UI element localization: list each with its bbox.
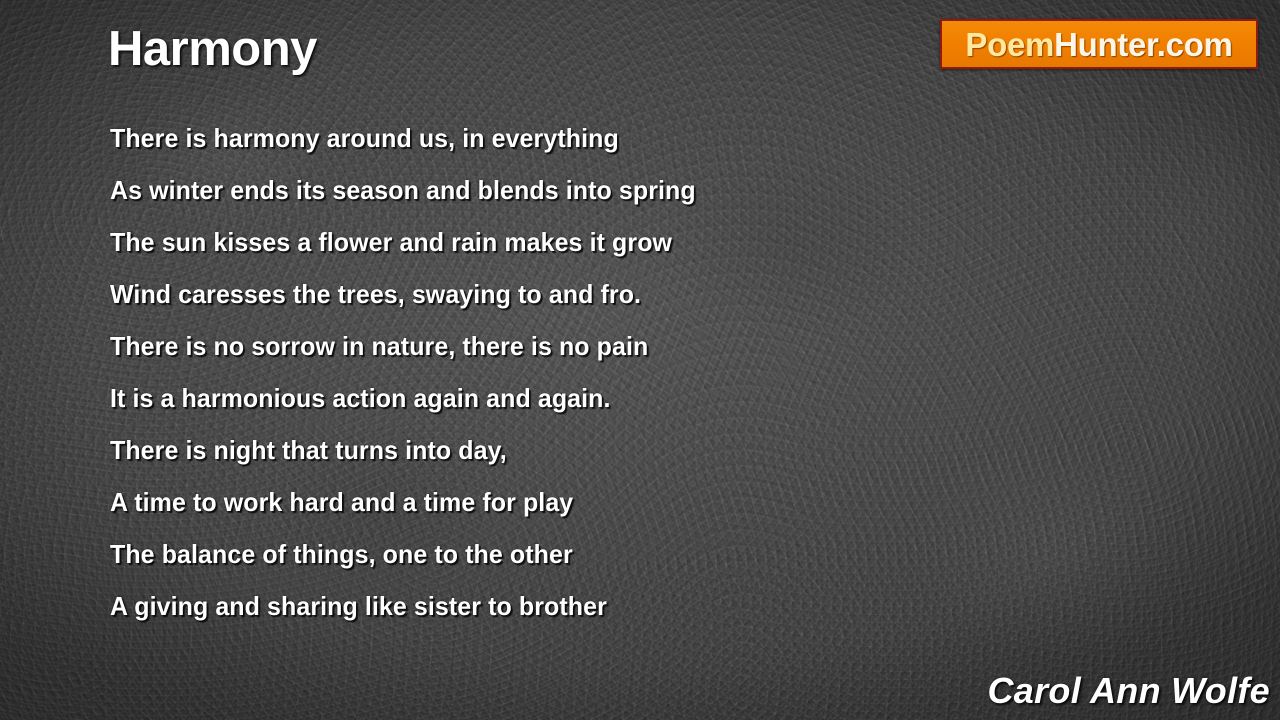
page-title: Harmony [108, 24, 317, 75]
poem-line: A giving and sharing like sister to brot… [110, 580, 897, 632]
poem-line: Wind caresses the trees, swaying to and … [110, 268, 897, 320]
poem-line: It is a harmonious action again and agai… [110, 372, 897, 424]
poem-line: There is night that turns into day, [110, 424, 897, 476]
logo-word-poem: Poem [965, 26, 1054, 63]
poem-image-canvas: Harmony There is harmony around us, in e… [0, 0, 1280, 720]
poem-line: The sun kisses a flower and rain makes i… [110, 216, 897, 268]
poem-line: There is no sorrow in nature, there is n… [110, 320, 897, 372]
logo-word-hunter: Hunter.com [1054, 26, 1233, 63]
poem-author: Carol Ann Wolfe [988, 670, 1271, 712]
poem-line: There is harmony around us, in everythin… [110, 112, 897, 164]
poem-body: There is harmony around us, in everythin… [110, 112, 930, 632]
poemhunter-logo[interactable]: PoemHunter.com [940, 19, 1258, 69]
poem-line: A time to work hard and a time for play [110, 476, 897, 528]
poem-line: As winter ends its season and blends int… [110, 164, 897, 216]
poem-line: The balance of things, one to the other [110, 528, 897, 580]
poemhunter-logo-text: PoemHunter.com [965, 28, 1232, 61]
